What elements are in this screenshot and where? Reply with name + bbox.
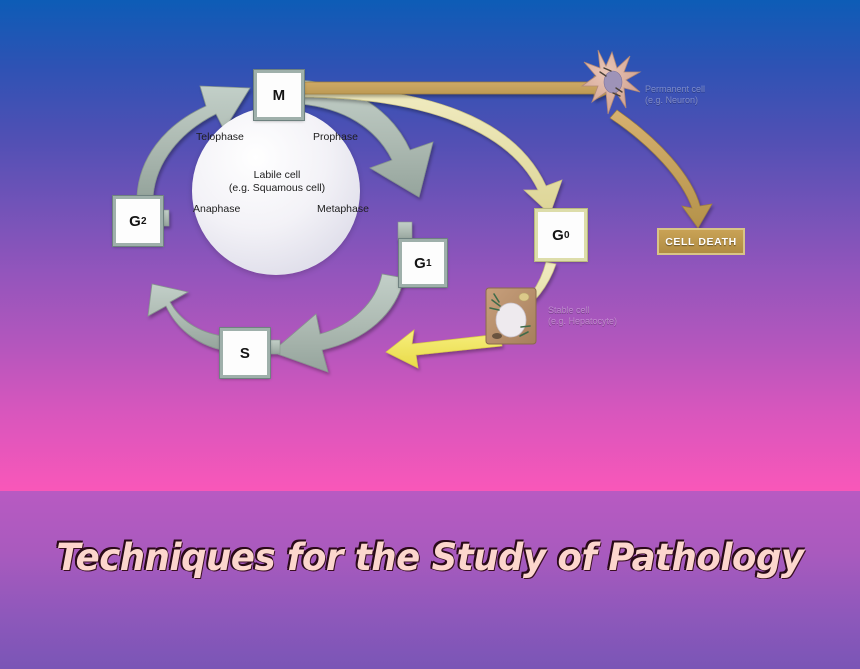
labile-cell-caption-line1: Labile cell (206, 169, 348, 182)
phase-box-g2-subscript: 2 (141, 216, 147, 227)
slide-title: Techniques for the Study of Pathology (17, 536, 843, 579)
mitosis-label-telophase: Telophase (196, 131, 244, 143)
phase-box-g1-subscript: 1 (426, 258, 432, 269)
mitosis-label-anaphase: Anaphase (193, 203, 240, 215)
stable-cell-caption: Stable cell (e.g. Hepatocyte) (548, 305, 658, 327)
arrow-stable-cell-to-cycle (386, 330, 502, 368)
phase-box-g0-subscript: 0 (564, 230, 570, 241)
labile-cell-caption: Labile cell (e.g. Squamous cell) (206, 169, 348, 195)
phase-box-g1[interactable]: G1 (399, 239, 447, 287)
phase-box-g0[interactable]: G0 (535, 209, 587, 261)
permanent-cell-caption-line1: Permanent cell (645, 84, 755, 95)
permanent-cell-caption: Permanent cell (e.g. Neuron) (645, 84, 755, 106)
phase-box-m-label: M (273, 87, 286, 104)
phase-box-g2[interactable]: G2 (113, 196, 163, 246)
background-gradient-bottom (0, 491, 860, 669)
phase-box-g2-label: G (129, 213, 141, 230)
phase-box-m[interactable]: M (254, 70, 304, 120)
cycle-arrow-s-to-g2 (148, 284, 222, 350)
cell-death-box[interactable]: CELL DEATH (657, 228, 745, 255)
arrow-permanent-cell-to-cell-death (610, 110, 712, 228)
stable-cell-caption-line2: (e.g. Hepatocyte) (548, 316, 658, 327)
mitosis-label-prophase: Prophase (313, 131, 358, 143)
phase-box-s[interactable]: S (220, 328, 270, 378)
phase-box-g0-label: G (552, 227, 564, 244)
cycle-connector-g1 (398, 222, 412, 240)
slide-canvas: Telophase Prophase Anaphase Metaphase La… (0, 0, 860, 669)
stable-cell-illustration (486, 288, 536, 344)
labile-cell-caption-line2: (e.g. Squamous cell) (206, 182, 348, 195)
stable-cell-caption-line1: Stable cell (548, 305, 658, 316)
diagram-stage: Telophase Prophase Anaphase Metaphase La… (0, 0, 860, 491)
phase-box-s-label: S (240, 345, 250, 362)
permanent-cell-caption-line2: (e.g. Neuron) (645, 95, 755, 106)
cycle-arrow-g1-to-s (272, 274, 404, 372)
phase-box-g1-label: G (414, 255, 426, 272)
cell-death-label: CELL DEATH (665, 236, 737, 248)
mitosis-label-metaphase: Metaphase (317, 203, 369, 215)
permanent-cell-illustration (582, 50, 640, 114)
